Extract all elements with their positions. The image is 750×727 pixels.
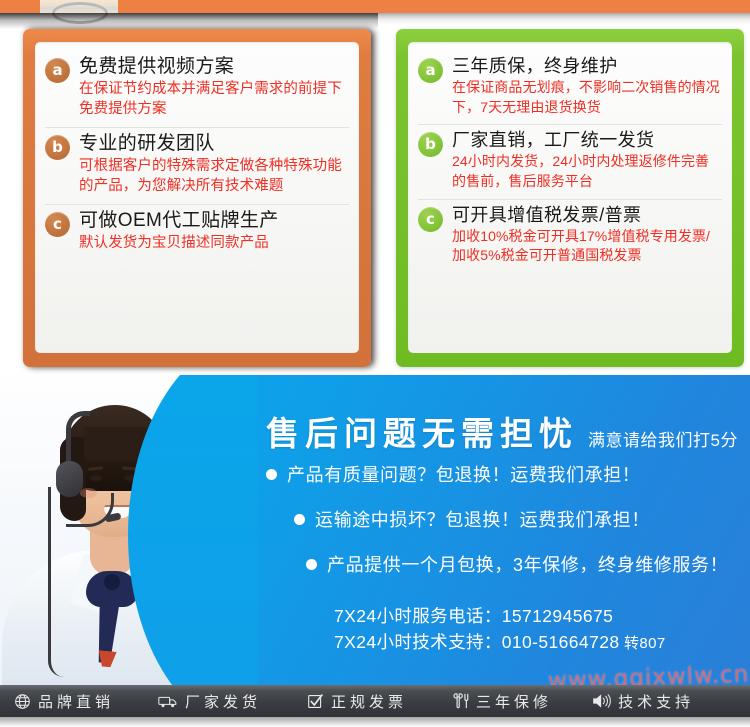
globe-icon xyxy=(14,693,31,710)
item-title: 可开具增值税发票/普票 xyxy=(452,205,722,226)
list-item: b 厂家直销，工厂统一发货 24小时内发货，24小时内处理返修件完善的售前，售后… xyxy=(418,130,722,199)
badge-a: a xyxy=(418,58,443,83)
bullet-text: 产品有质量问题？包退换！运费我们承担！ xyxy=(287,461,640,487)
guarantee-footer-bar: 品牌直销 厂家发货 正规发票 xyxy=(0,685,750,717)
item-body: 可做OEM代工贴牌生产 默认发货为宝贝描述同款产品 xyxy=(79,210,349,253)
green-panel-inner: a 三年质保，终身维护 在保证商品无划痕，不影响二次销售的情况下，7天无理由退货… xyxy=(408,42,732,353)
operator-eye-left xyxy=(90,475,102,481)
service-heading-row: 售后问题无需担忧 满意请给我们打5分 xyxy=(266,407,738,455)
service-phone-extension: 转807 xyxy=(619,635,665,652)
item-title: 可做OEM代工贴牌生产 xyxy=(79,210,349,232)
item-body: 厂家直销，工厂统一发货 24小时内发货，24小时内处理返修件完善的售前，售后服务… xyxy=(452,130,722,191)
item-title: 厂家直销，工厂统一发货 xyxy=(452,130,722,151)
item-description: 在保证节约成本并满足客户需求的前提下免费提供方案 xyxy=(79,79,349,120)
footer-item-label: 厂家发货 xyxy=(185,691,261,712)
bullet-dot-icon xyxy=(294,514,305,525)
footer-item-tech-support: 技术支持 xyxy=(592,691,694,712)
footer-item-three-year-warranty: 三年保修 xyxy=(453,691,552,712)
list-item: 产品提供一个月包换，3年保修，终身维修服务！ xyxy=(266,551,746,577)
item-body: 可开具增值税发票/普票 加收10%税金可开具17%增值税专用发票/加收5%税金可… xyxy=(452,205,722,266)
list-item: 运输途中损坏？包退换！运费我们承担！ xyxy=(266,506,746,532)
top-orange-strip xyxy=(0,0,750,13)
green-feature-panel: a 三年质保，终身维护 在保证商品无划痕，不影响二次销售的情况下，7天无理由退货… xyxy=(396,29,744,367)
tools-icon xyxy=(453,692,469,710)
headset-cable-icon xyxy=(48,487,64,677)
service-phone-line-1: 7X24小时服务电话：15712945675 xyxy=(334,603,666,629)
service-phone-line-2: 7X24小时技术支持：010-51664728 转807 xyxy=(334,629,666,656)
footer-item-official-invoice: 正规发票 xyxy=(307,691,407,712)
badge-b: b xyxy=(418,132,443,157)
badge-c: c xyxy=(45,212,70,237)
service-content: 售后问题无需担忧 满意请给我们打5分 产品有质量问题？包退换！运费我们承担！ 运… xyxy=(258,375,750,685)
item-body: 免费提供视频方案 在保证节约成本并满足客户需求的前提下免费提供方案 xyxy=(79,56,349,120)
item-description: 默认发货为宝贝描述同款产品 xyxy=(79,233,349,254)
list-item: 产品有质量问题？包退换！运费我们承担！ xyxy=(266,461,746,487)
item-description: 加收10%税金可开具17%增值税专用发票/加收5%税金可开普通国税发票 xyxy=(452,227,722,267)
checkbox-icon xyxy=(307,693,324,710)
item-body: 专业的研发团队 可根据客户的特殊需求定做各种特殊功能的产品，为您解决所有技术难题 xyxy=(79,133,349,197)
promo-page: a 免费提供视频方案 在保证节约成本并满足客户需求的前提下免费提供方案 b 专业… xyxy=(0,0,750,727)
badge-b: b xyxy=(45,135,70,160)
list-item: a 三年质保，终身维护 在保证商品无划痕，不影响二次销售的情况下，7天无理由退货… xyxy=(418,56,722,125)
service-phone-line-2-number: 7X24小时技术支持：010-51664728 xyxy=(334,632,619,652)
bullet-dot-icon xyxy=(306,559,317,570)
badge-c: c xyxy=(418,207,443,232)
after-sales-service-band: 售后问题无需担忧 满意请给我们打5分 产品有质量问题？包退换！运费我们承担！ 运… xyxy=(0,375,750,685)
speaker-icon xyxy=(592,693,611,709)
list-item: b 专业的研发团队 可根据客户的特殊需求定做各种特殊功能的产品，为您解决所有技术… xyxy=(45,133,349,205)
orange-feature-panel: a 免费提供视频方案 在保证节约成本并满足客户需求的前提下免费提供方案 b 专业… xyxy=(23,29,371,367)
list-item: a 免费提供视频方案 在保证节约成本并满足客户需求的前提下免费提供方案 xyxy=(45,56,349,128)
orange-panel-inner: a 免费提供视频方案 在保证节约成本并满足客户需求的前提下免费提供方案 b 专业… xyxy=(35,42,359,353)
truck-icon xyxy=(158,694,178,709)
item-title: 三年质保，终身维护 xyxy=(452,56,722,77)
footer-item-brand-direct: 品牌直销 xyxy=(14,691,114,712)
service-phone-block: 7X24小时服务电话：15712945675 7X24小时技术支持：010-51… xyxy=(334,603,666,656)
footer-shadow xyxy=(0,717,750,727)
footer-item-factory-shipping: 厂家发货 xyxy=(158,691,261,712)
list-item: c 可做OEM代工贴牌生产 默认发货为宝贝描述同款产品 xyxy=(45,210,349,253)
feature-panels: a 免费提供视频方案 在保证节约成本并满足客户需求的前提下免费提供方案 b 专业… xyxy=(0,29,750,375)
item-title: 专业的研发团队 xyxy=(79,133,349,155)
footer-item-label: 三年保修 xyxy=(476,691,552,712)
item-description: 24小时内发货，24小时内处理返修件完善的售前，售后服务平台 xyxy=(452,152,722,192)
bullet-dot-icon xyxy=(266,469,277,480)
service-heading: 售后问题无需担忧 xyxy=(266,407,578,455)
service-bullet-list: 产品有质量问题？包退换！运费我们承担！ 运输途中损坏？包退换！运费我们承担！ 产… xyxy=(266,461,746,596)
bullet-text: 产品提供一个月包换，3年保修，终身维修服务！ xyxy=(327,551,728,577)
item-description: 在保证商品无划痕，不影响二次销售的情况下，7天无理由退货换货 xyxy=(452,78,722,118)
service-subheading: 满意请给我们打5分 xyxy=(588,426,738,451)
item-body: 三年质保，终身维护 在保证商品无划痕，不影响二次销售的情况下，7天无理由退货换货 xyxy=(452,56,722,117)
list-item: c 可开具增值税发票/普票 加收10%税金可开具17%增值税专用发票/加收5%税… xyxy=(418,205,722,266)
item-description: 可根据客户的特殊需求定做各种特殊功能的产品，为您解决所有技术难题 xyxy=(79,156,349,197)
footer-item-label: 技术支持 xyxy=(618,691,694,712)
badge-a: a xyxy=(45,58,70,83)
footer-item-label: 正规发票 xyxy=(331,691,407,712)
item-title: 免费提供视频方案 xyxy=(79,56,349,78)
footer-item-label: 品牌直销 xyxy=(38,691,114,712)
operator-photo xyxy=(0,375,258,685)
top-shadow-cut xyxy=(378,13,750,29)
bullet-text: 运输途中损坏？包退换！运费我们承担！ xyxy=(315,506,650,532)
operator-ribbon-knot xyxy=(104,574,120,590)
